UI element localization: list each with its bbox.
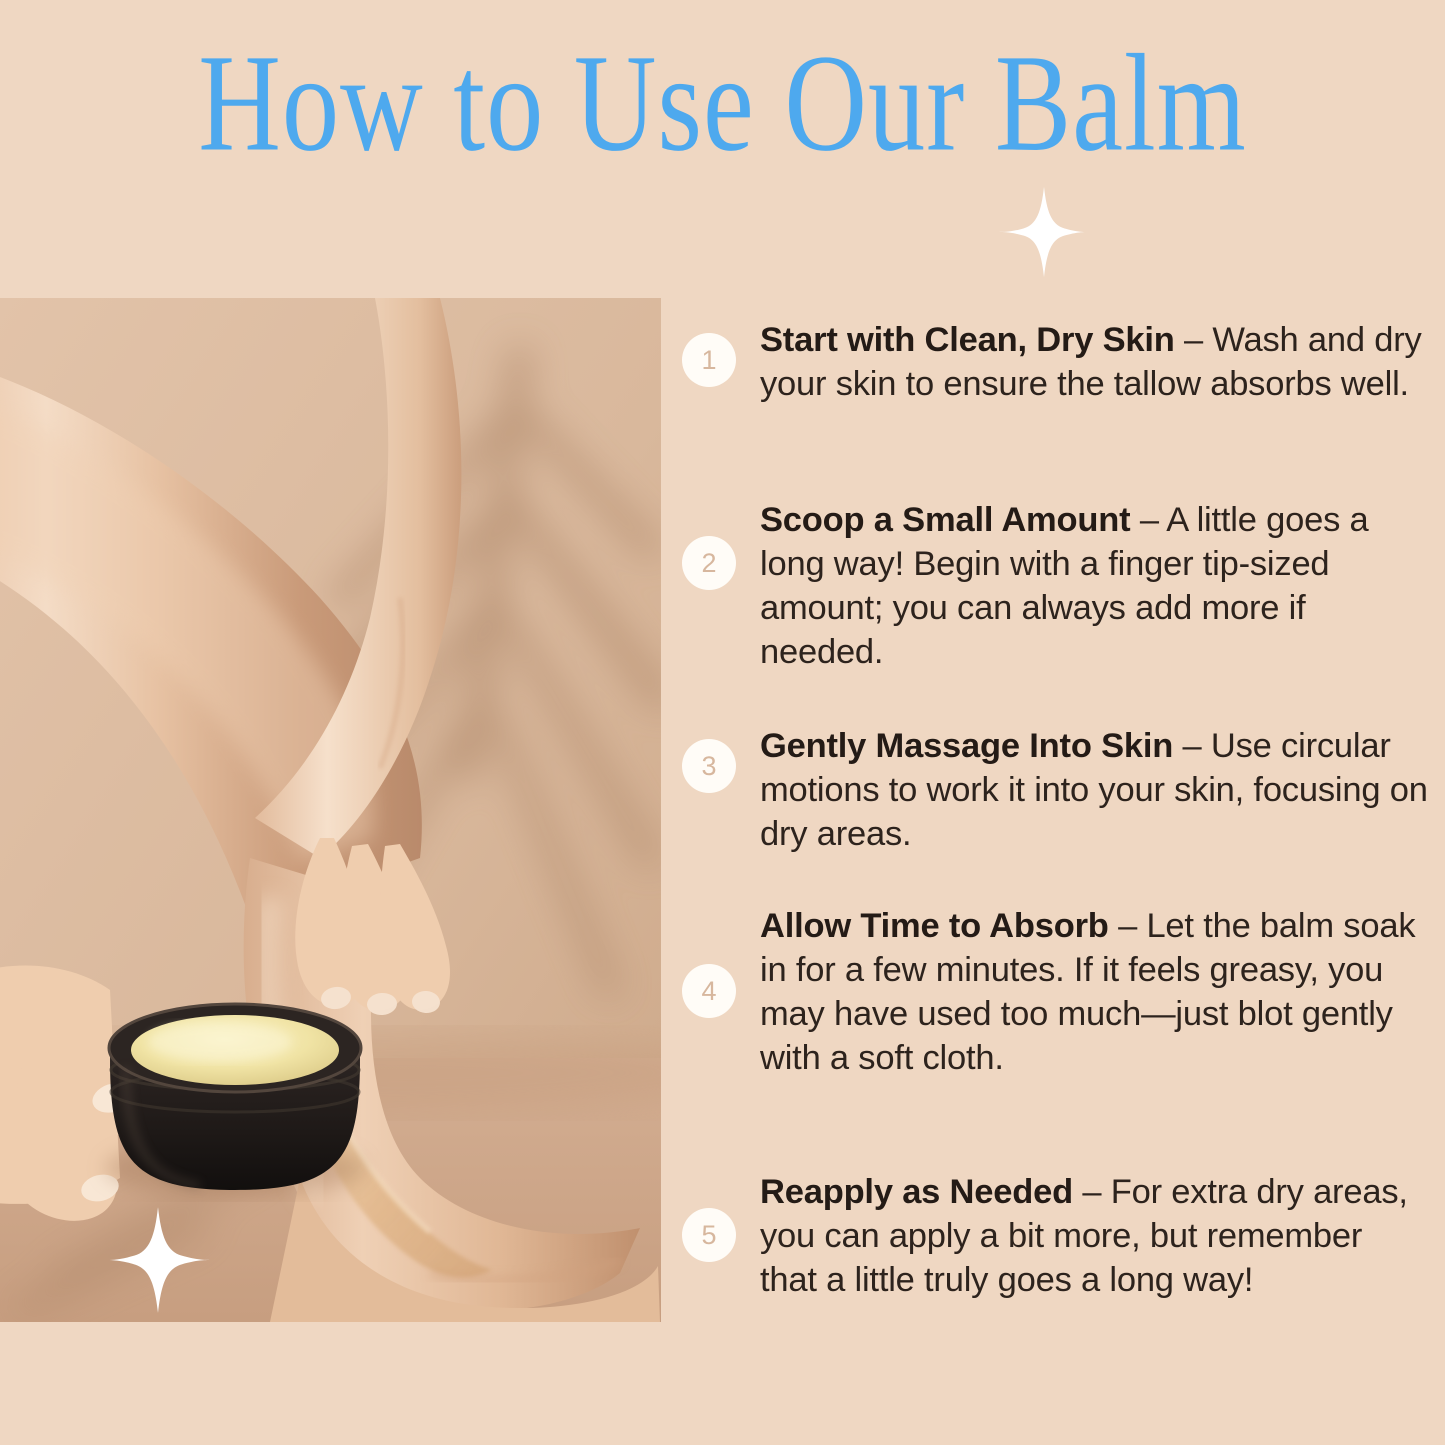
step-number-badge: 1 <box>682 333 736 387</box>
step-text: Allow Time to Absorb – Let the balm soak… <box>760 904 1428 1080</box>
header-band: How to Use Our Balm <box>0 0 1445 298</box>
page-title: How to Use Our Balm <box>22 28 1424 178</box>
step-number-badge: 4 <box>682 964 736 1018</box>
step-number-badge: 3 <box>682 739 736 793</box>
sparkle-icon <box>998 186 1090 278</box>
step-text: Gently Massage Into Skin – Use circular … <box>760 724 1428 856</box>
step-lead: Reapply as Needed <box>760 1173 1073 1211</box>
step-item: 1 Start with Clean, Dry Skin – Wash and … <box>676 318 1428 406</box>
step-number-badge: 5 <box>682 1208 736 1262</box>
step-lead: Allow Time to Absorb <box>760 907 1109 945</box>
step-text: Reapply as Needed – For extra dry areas,… <box>760 1170 1428 1302</box>
step-item: 4 Allow Time to Absorb – Let the balm so… <box>676 904 1428 1080</box>
product-photo <box>0 298 661 1322</box>
step-lead: Start with Clean, Dry Skin <box>760 321 1175 359</box>
step-text: Start with Clean, Dry Skin – Wash and dr… <box>760 318 1428 406</box>
step-item: 3 Gently Massage Into Skin – Use circula… <box>676 724 1428 856</box>
step-number-badge: 2 <box>682 536 736 590</box>
step-text: Scoop a Small Amount – A little goes a l… <box>760 498 1428 674</box>
step-lead: Gently Massage Into Skin <box>760 727 1173 765</box>
step-item: 2 Scoop a Small Amount – A little goes a… <box>676 498 1428 674</box>
step-item: 5 Reapply as Needed – For extra dry area… <box>676 1170 1428 1302</box>
step-lead: Scoop a Small Amount <box>760 501 1130 539</box>
steps-list: 1 Start with Clean, Dry Skin – Wash and … <box>676 300 1428 1420</box>
sparkle-icon <box>104 1206 212 1314</box>
